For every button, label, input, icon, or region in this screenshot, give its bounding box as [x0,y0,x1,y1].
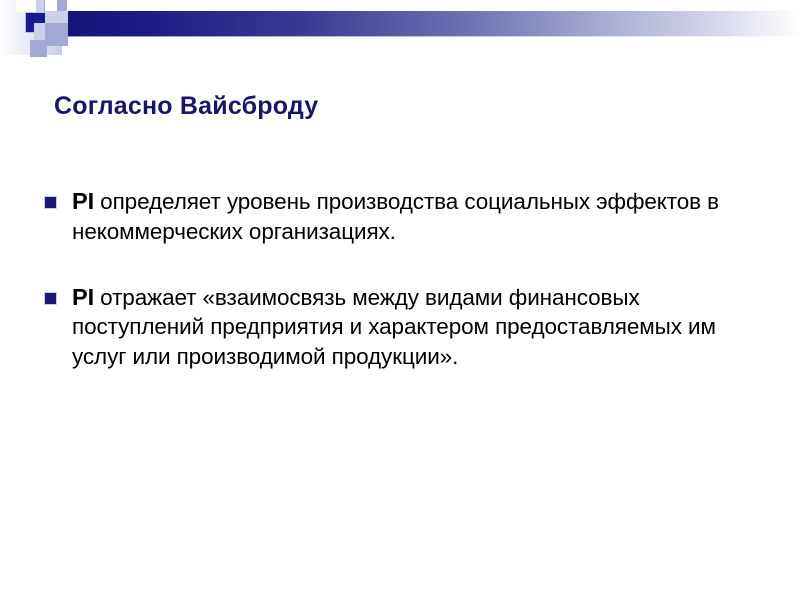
decoration-white-notch-b [22,0,36,11]
slide-title: Согласно Вайсброду [54,92,754,121]
decoration-square-lavender-e [45,23,68,46]
bullet-text: PI определяет уровень производства социа… [72,186,764,246]
bullet-text: PI отражает «взаимосвязь между видами фи… [72,282,764,371]
decoration-header-underline [68,36,800,37]
slide-body: PI определяет уровень производства социа… [44,186,764,407]
decoration-header-gradient-bar [68,11,800,37]
decoration-square-lavender-f [30,40,47,57]
bullet-item: PI отражает «взаимосвязь между видами фи… [44,282,764,371]
decoration-square-lavender-c [45,11,68,23]
bullet-body-text: отражает «взаимосвязь между видами финан… [72,285,716,369]
bullet-lead-term: PI [72,188,94,214]
slide-canvas: Согласно Вайсброду PI определяет уровень… [0,0,800,600]
bullet-body-text: определяет уровень производства социальн… [72,189,719,244]
square-bullet-icon [44,196,57,209]
bullet-item: PI определяет уровень производства социа… [44,186,764,246]
square-bullet-icon [44,292,57,305]
bullet-lead-term: PI [72,284,94,310]
